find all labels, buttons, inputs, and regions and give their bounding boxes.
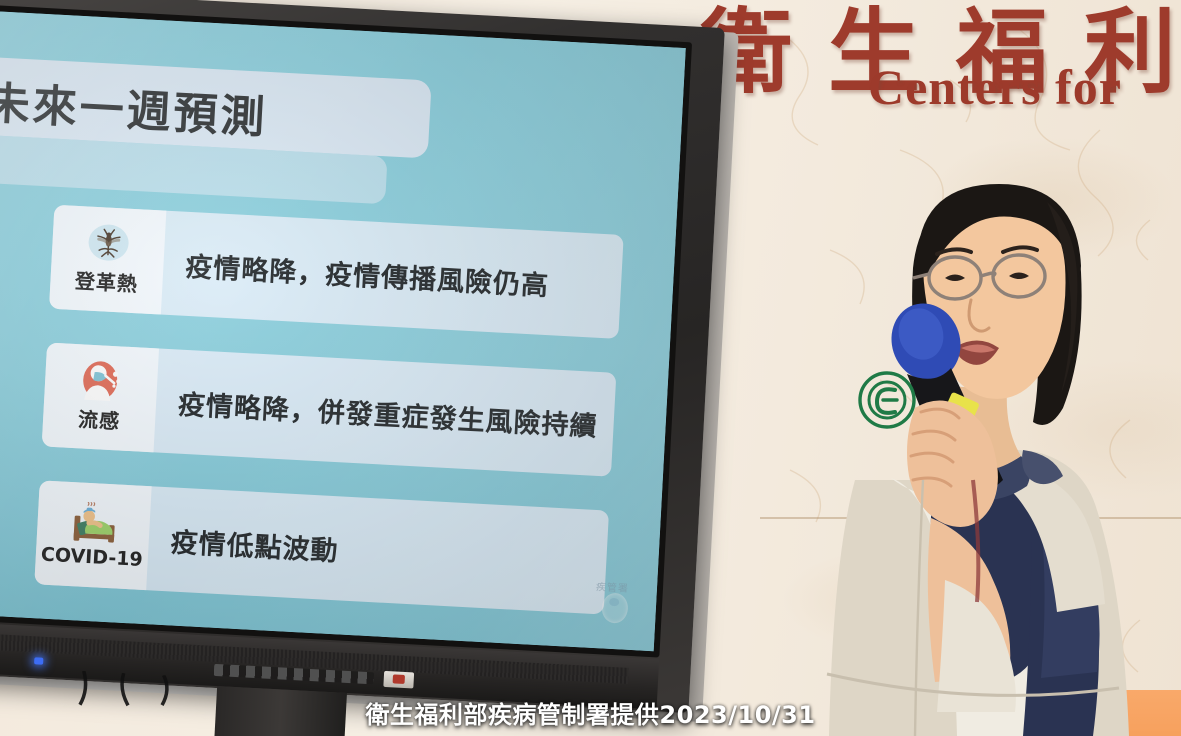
display-screen[interactable]: 未來一週預測 <box>0 9 686 651</box>
speaker-person <box>795 150 1181 736</box>
forecast-row-influenza: 流感 疫情略降，併發重症發生風險持續 <box>42 343 617 477</box>
control-panel-sticker <box>383 671 414 689</box>
row-label-covid: COVID-19 <box>40 543 143 570</box>
screenshot-root: 衛生福利部 Centers for 未來一週預測 <box>0 0 1181 736</box>
row-text-dengue: 疫情略降，疫情傳播風險仍高 <box>163 243 551 302</box>
row-badge-covid: COVID-19 <box>34 480 151 590</box>
display-bezel: 未來一週預測 <box>0 0 725 713</box>
cdc-green-logo <box>860 373 914 427</box>
forecast-row-dengue: 登革熱 疫情略降，疫情傳播風險仍高 <box>49 205 624 339</box>
presentation-slide: 未來一週預測 <box>0 9 686 651</box>
image-caption: 衛生福利部疾病管制署提供2023/10/31 <box>0 695 1181 730</box>
wall-sign-english: Centers for <box>868 58 1122 116</box>
row-label-influenza: 流感 <box>77 403 120 434</box>
mosquito-icon <box>82 222 134 267</box>
person-in-bed-icon <box>68 501 120 546</box>
forecast-row-covid: COVID-19 疫情低點波動 <box>34 480 609 614</box>
row-badge-influenza: 流感 <box>42 343 159 453</box>
row-label-dengue: 登革熱 <box>74 265 138 297</box>
power-led <box>34 657 43 664</box>
interactive-display[interactable]: 未來一週預測 <box>0 0 743 728</box>
masked-person-sneeze-icon <box>75 360 127 405</box>
row-badge-dengue: 登革熱 <box>49 205 166 315</box>
row-text-influenza: 疫情略降，併發重症發生風險持續 <box>155 381 598 443</box>
row-text-covid: 疫情低點波動 <box>148 519 340 568</box>
